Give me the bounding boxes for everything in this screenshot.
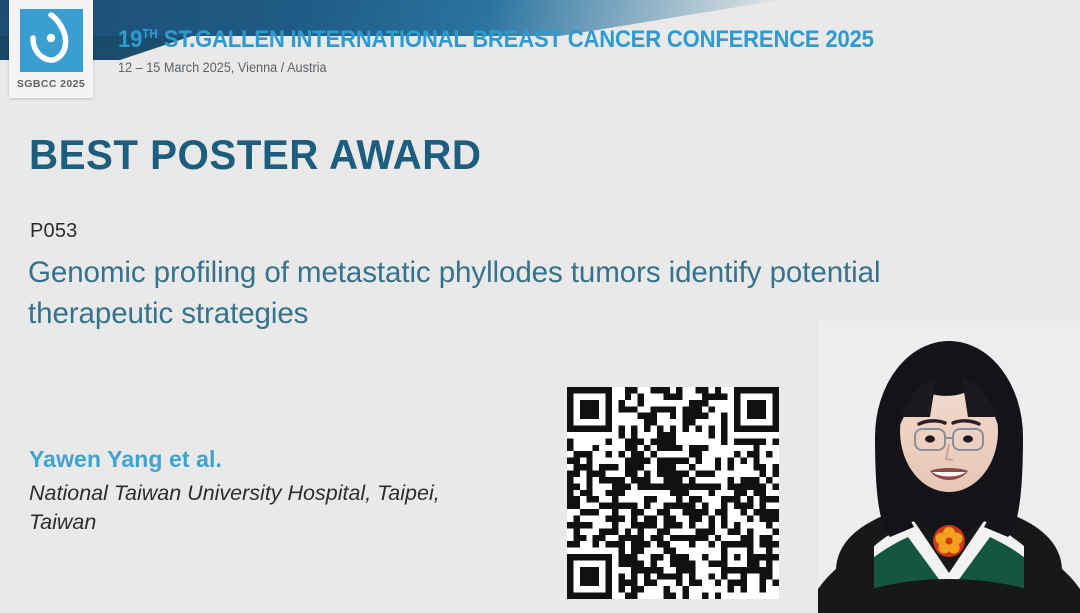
poster-title: Genomic profiling of metastatic phyllode… xyxy=(28,252,924,334)
author-block: Yawen Yang et al. National Taiwan Univer… xyxy=(29,445,479,536)
award-winner-portrait xyxy=(818,321,1080,613)
award-heading: BEST POSTER AWARD xyxy=(29,134,481,176)
logo-caption: SGBCC 2025 xyxy=(17,78,85,90)
poster-qr-code[interactable] xyxy=(567,387,779,599)
conference-title-number: 19 xyxy=(118,26,142,53)
conference-title-ordinal: TH xyxy=(142,26,158,41)
conference-title: 19TH ST.GALLEN INTERNATIONAL BREAST CANC… xyxy=(118,27,874,53)
sgbcc-logo-icon xyxy=(20,9,83,72)
author-affiliation: National Taiwan University Hospital, Tai… xyxy=(29,479,479,537)
conference-subtitle: 12 – 15 March 2025, Vienna / Austria xyxy=(118,60,907,75)
conference-header: 19TH ST.GALLEN INTERNATIONAL BREAST CANC… xyxy=(118,27,958,75)
poster-id: P053 xyxy=(30,220,78,243)
author-name: Yawen Yang et al. xyxy=(29,445,479,474)
sgbcc-logo-card: SGBCC 2025 xyxy=(9,0,93,98)
conference-title-rest: ST.GALLEN INTERNATIONAL BREAST CANCER CO… xyxy=(158,26,874,53)
